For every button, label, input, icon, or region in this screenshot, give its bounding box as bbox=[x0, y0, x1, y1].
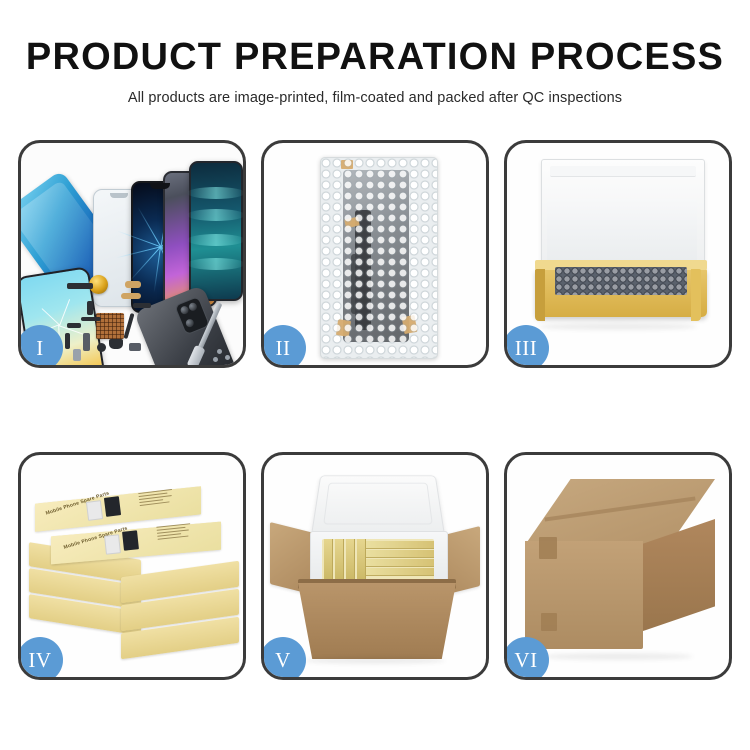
spare-part bbox=[67, 283, 93, 289]
carton-shadow bbox=[543, 653, 693, 660]
spare-part bbox=[213, 357, 218, 362]
step-badge-4: IV bbox=[18, 637, 63, 680]
step-badge-6: VI bbox=[504, 637, 549, 680]
spare-part bbox=[67, 323, 81, 328]
process-steps-grid: I II bbox=[18, 140, 732, 680]
flex-cable-icon bbox=[351, 254, 360, 314]
carton-seam bbox=[544, 496, 695, 521]
teal-gradient-phone-icon bbox=[189, 161, 243, 301]
spare-part bbox=[129, 343, 141, 351]
box-side-left bbox=[535, 269, 545, 321]
sealed-carton-icon bbox=[525, 479, 715, 651]
product-preparation-process-page: PRODUCT PREPARATION PROCESS All products… bbox=[0, 0, 750, 750]
tape-strip-icon bbox=[539, 537, 557, 559]
spare-part bbox=[83, 333, 90, 351]
screen-thumbnail bbox=[104, 534, 121, 554]
yellow-boxes-inside-icon bbox=[322, 539, 434, 581]
foam-box-lid-icon bbox=[311, 475, 445, 535]
spare-part bbox=[217, 349, 222, 354]
step-badge-3: III bbox=[504, 325, 549, 368]
spare-part bbox=[125, 281, 141, 288]
carton-shadow bbox=[305, 657, 445, 664]
bubble-wrapped-contents-icon bbox=[555, 267, 687, 295]
carton-body bbox=[298, 583, 456, 659]
page-header: PRODUCT PREPARATION PROCESS All products… bbox=[0, 0, 750, 106]
box-side-right bbox=[691, 269, 701, 321]
process-step-panel-5: V bbox=[261, 452, 489, 680]
tape-strip-icon bbox=[402, 315, 418, 334]
screen-thumbnail bbox=[104, 496, 121, 517]
step-badge-1: I bbox=[18, 325, 63, 368]
box-shadow bbox=[538, 323, 698, 330]
spare-part bbox=[81, 317, 101, 321]
spare-part bbox=[73, 349, 81, 361]
spare-part bbox=[87, 301, 93, 315]
process-step-panel-1: I bbox=[18, 140, 246, 368]
tape-strip-icon bbox=[336, 319, 351, 337]
spare-part bbox=[123, 313, 134, 339]
spare-part bbox=[65, 333, 70, 349]
process-step-panel-4: Mobile Phone Spare Parts Mobile Phone Sp… bbox=[18, 452, 246, 680]
process-step-panel-2: II bbox=[261, 140, 489, 368]
bubble-wrap-bag-icon bbox=[320, 157, 438, 359]
step-badge-2: II bbox=[261, 325, 306, 368]
spare-part bbox=[225, 355, 230, 360]
process-step-panel-3: III bbox=[504, 140, 732, 368]
step-badge-5: V bbox=[261, 637, 306, 680]
tape-strip-icon bbox=[341, 160, 353, 169]
screen-thumbnail bbox=[86, 500, 103, 521]
page-subtitle: All products are image-printed, film-coa… bbox=[0, 90, 750, 106]
spare-part bbox=[97, 343, 106, 352]
page-title: PRODUCT PREPARATION PROCESS bbox=[0, 38, 750, 78]
spare-part bbox=[109, 339, 123, 349]
box-stack: Mobile Phone Spare Parts Mobile Phone Sp… bbox=[29, 473, 241, 663]
spare-part bbox=[133, 303, 151, 308]
tape-strip-icon bbox=[541, 613, 557, 631]
spare-part bbox=[121, 293, 141, 299]
screen-thumbnail bbox=[122, 530, 139, 550]
process-step-panel-6: VI bbox=[504, 452, 732, 680]
